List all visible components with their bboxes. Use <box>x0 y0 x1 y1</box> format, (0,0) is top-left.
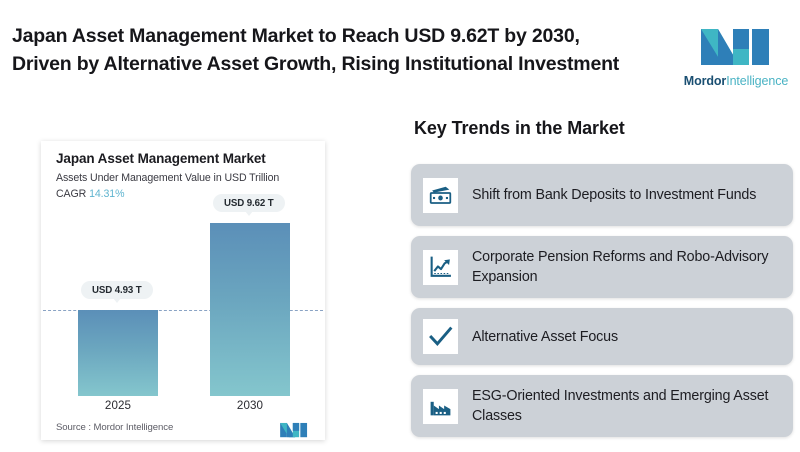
chart-cagr: CAGR 14.31% <box>56 188 124 200</box>
line-chart-up-icon <box>423 250 458 285</box>
chart-card: Japan Asset Management Market Assets Und… <box>41 141 325 440</box>
chart-source-text: Source : Mordor Intelligence <box>56 422 173 433</box>
bar-value-text-2025: USD 4.93 T <box>92 285 142 296</box>
brand-wordmark: MordorIntelligence <box>684 74 789 88</box>
brand-wordmark-light: Intelligence <box>726 74 788 88</box>
trend-card-4[interactable]: ESG-Oriented Investments and Emerging As… <box>411 375 793 437</box>
bar-value-text-2030: USD 9.62 T <box>224 198 274 209</box>
trends-heading: Key Trends in the Market <box>414 118 625 139</box>
bar-2025 <box>78 310 158 396</box>
trend-card-3[interactable]: Alternative Asset Focus <box>411 308 793 365</box>
trend-card-2-text: Corporate Pension Reforms and Robo-Advis… <box>472 247 781 287</box>
x-axis-label-2030: 2030 <box>210 399 290 412</box>
chart-title: Japan Asset Management Market <box>56 151 266 166</box>
bar-2030 <box>210 223 290 396</box>
chart-subtitle: Assets Under Management Value in USD Tri… <box>56 172 279 184</box>
trend-card-3-text: Alternative Asset Focus <box>472 327 618 347</box>
trend-list: Shift from Bank Deposits to Investment F… <box>411 164 793 447</box>
mordor-m-logo-icon <box>699 19 773 67</box>
mordor-m-logo-small-icon <box>279 419 309 438</box>
chart-cagr-value: 14.31% <box>89 188 124 200</box>
chart-cagr-label: CAGR <box>56 188 86 200</box>
pill-tail-icon <box>113 298 121 303</box>
page-title: Japan Asset Management Market to Reach U… <box>12 22 662 78</box>
x-axis-label-2025: 2025 <box>78 399 158 412</box>
factory-icon <box>423 389 458 424</box>
trend-card-2[interactable]: Corporate Pension Reforms and Robo-Advis… <box>411 236 793 298</box>
brand-wordmark-bold: Mordor <box>684 74 726 88</box>
page-title-line-1: Japan Asset Management Market to Reach U… <box>12 22 662 50</box>
bar-value-label-2030: USD 9.62 T <box>213 194 285 212</box>
trend-card-1[interactable]: Shift from Bank Deposits to Investment F… <box>411 164 793 226</box>
banknotes-icon <box>423 178 458 213</box>
brand-logo: MordorIntelligence <box>683 6 789 100</box>
checkmark-icon <box>423 319 458 354</box>
chart-plot-area: USD 4.93 T USD 9.62 T <box>41 201 325 396</box>
trend-card-4-text: ESG-Oriented Investments and Emerging As… <box>472 386 781 426</box>
bar-value-label-2025: USD 4.93 T <box>81 281 153 299</box>
page-title-line-2: Driven by Alternative Asset Growth, Risi… <box>12 50 662 78</box>
trend-card-1-text: Shift from Bank Deposits to Investment F… <box>472 185 756 205</box>
pill-tail-icon <box>245 211 253 216</box>
